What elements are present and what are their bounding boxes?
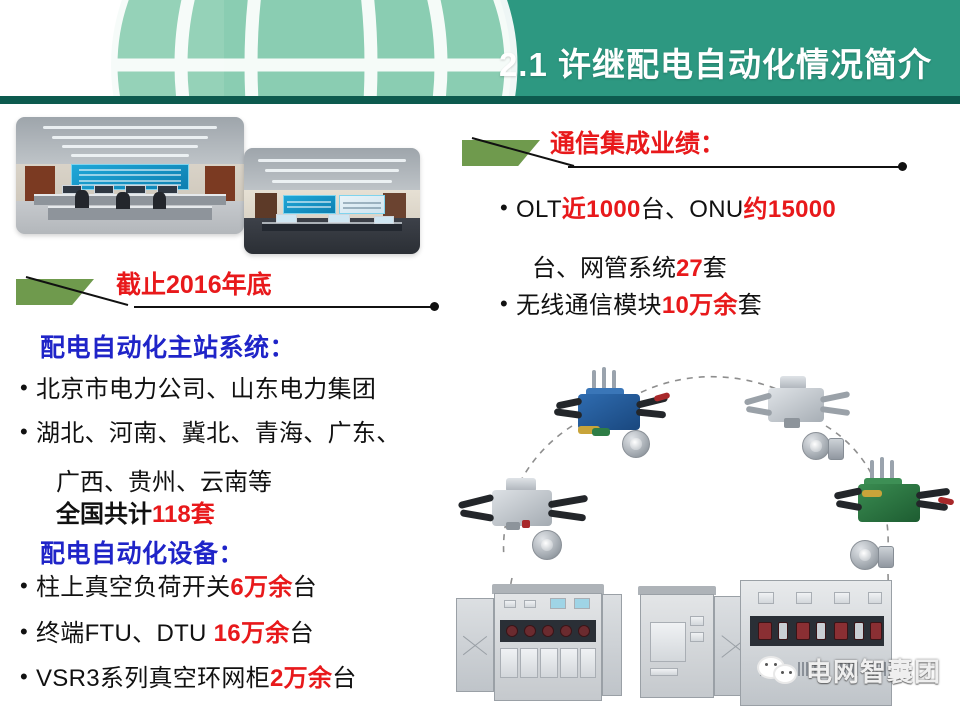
wechat-icon <box>757 656 799 686</box>
watermark: 电网智囊团 <box>757 652 941 689</box>
slide-header: 2.1 许继配电自动化情况简介 <box>0 0 960 96</box>
list-item: • 无线通信模块10万余套 <box>500 292 762 320</box>
nms-unit: 套 <box>703 255 727 282</box>
header-divider <box>0 96 960 104</box>
national-total-row: 全国共计118套 <box>56 494 215 529</box>
list-item: • 北京市电力公司、山东电力集团 <box>20 376 376 404</box>
tag-end-dot <box>898 162 907 171</box>
olt-label: OLT <box>516 196 562 223</box>
ftu-module <box>828 438 844 460</box>
communication-section-title: 通信集成业绩： <box>550 124 725 160</box>
watermark-text: 电网智囊团 <box>806 652 941 689</box>
onu-count: 约15000 <box>744 196 837 223</box>
bullet-icon: • <box>500 196 516 220</box>
vsr3-unit: 台 <box>332 665 356 692</box>
tag-underline <box>568 166 902 168</box>
list-item: • OLT近1000台、ONU约15000 <box>500 196 836 224</box>
deadline-title: 截止2016年底 <box>116 265 272 301</box>
control-room-photo-1 <box>16 117 244 234</box>
ftu-controller <box>622 430 650 458</box>
list-item: • 湖北、河南、冀北、青海、广东、 <box>20 420 401 448</box>
bullet-icon: • <box>20 574 36 598</box>
page-title: 2.1 许继配电自动化情况简介 <box>499 38 932 86</box>
national-total-value: 118套 <box>152 501 215 528</box>
master-station-item-2: 湖北、河南、冀北、青海、广东、 <box>36 420 401 448</box>
ftu-controller <box>802 432 830 460</box>
ftu-dtu-label: 终端FTU、DTU <box>36 620 214 647</box>
list-item: • 柱上真空负荷开关6万余台 <box>20 574 317 602</box>
tag-underline <box>134 306 434 308</box>
equipment-heading: 配电自动化设备： <box>40 534 244 570</box>
bullet-icon: • <box>20 420 36 444</box>
ftu-module <box>878 546 894 568</box>
vsr3-label: VSR3系列真空环网柜 <box>36 665 270 692</box>
pole-mounted-vacuum-switch-green <box>840 460 960 538</box>
ring-main-unit-cabinet <box>740 580 910 710</box>
vacuum-switch-label: 柱上真空负荷开关 <box>36 574 230 601</box>
ftu-controller <box>850 540 880 570</box>
vacuum-switch-count: 6万余 <box>230 574 292 601</box>
onu-label: 台、ONU <box>641 196 744 223</box>
ftu-dtu-count: 16万余 <box>214 620 290 647</box>
master-station-item-2-continuation: 广西、贵州、云南等 <box>56 462 272 497</box>
olt-count: 近1000 <box>562 196 641 223</box>
bullet-icon: • <box>20 376 36 400</box>
wireless-module-label: 无线通信模块 <box>516 292 662 319</box>
wireless-module-unit: 套 <box>738 292 762 319</box>
master-station-heading: 配电自动化主站系统： <box>40 328 295 364</box>
list-item: • 终端FTU、DTU 16万余台 <box>20 620 314 648</box>
vsr3-count: 2万余 <box>270 665 332 692</box>
national-total-label: 全国共计 <box>56 501 152 528</box>
pole-mounted-vacuum-switch-grey-top <box>744 374 864 440</box>
master-station-item-1: 北京市电力公司、山东电力集团 <box>36 376 376 404</box>
wireless-module-count: 10万余 <box>662 292 738 319</box>
nms-label: 台、网管系统 <box>532 255 676 282</box>
bullet-icon: • <box>20 620 36 644</box>
bullet-icon: • <box>500 292 516 316</box>
pole-mounted-vacuum-switch-grey-left <box>464 476 594 548</box>
slide-root: 2.1 许继配电自动化情况简介 <box>0 0 960 720</box>
pole-mounted-vacuum-switch-blue <box>558 370 678 440</box>
vacuum-switch-unit: 台 <box>293 574 317 601</box>
ftu-controller <box>532 530 562 560</box>
list-item-continuation: 台、网管系统27套 <box>532 248 727 283</box>
tag-end-dot <box>430 302 439 311</box>
control-room-photo-2 <box>244 148 420 254</box>
list-item: • VSR3系列真空环网柜2万余台 <box>20 665 357 693</box>
bullet-icon: • <box>20 665 36 689</box>
ftu-dtu-unit: 台 <box>290 620 314 647</box>
nms-count: 27 <box>676 255 703 282</box>
globe-grid-icon <box>96 0 526 96</box>
